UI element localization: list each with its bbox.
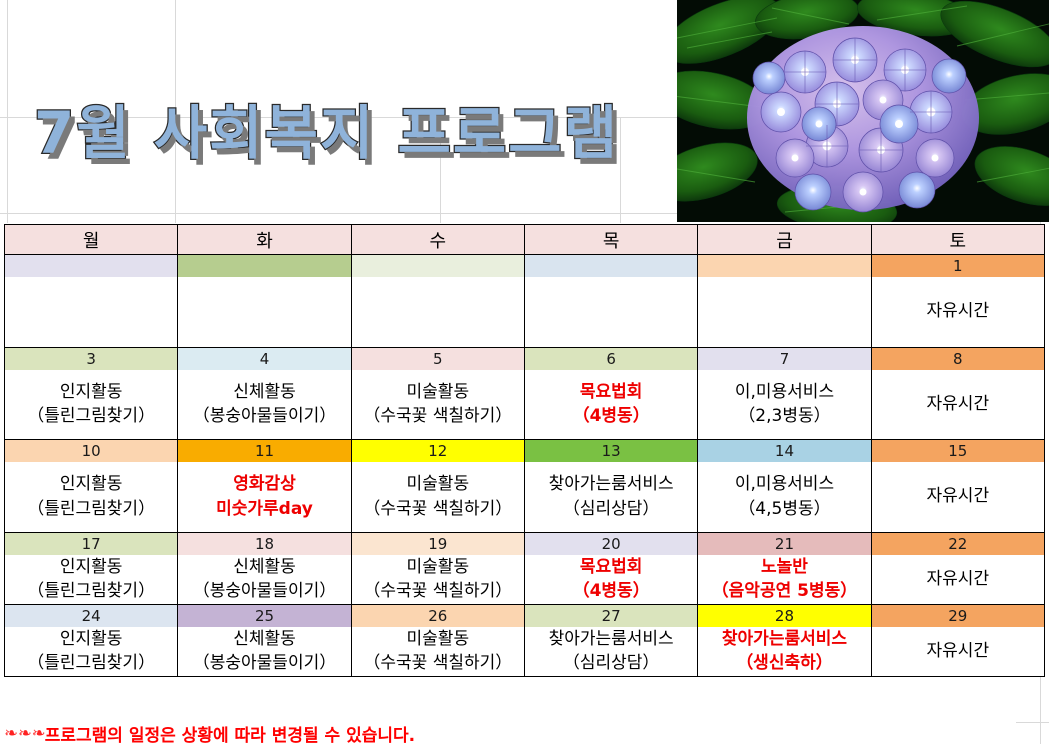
calendar-activity-row: 인지활동（틀린그림찾기）신체활동（봉숭아물들이기）미술활동（수국꽃 색칠하기）찾… (5, 627, 1045, 677)
calendar-date-row: 345678 (5, 347, 1045, 370)
calendar-activity-cell[interactable]: 신체활동（봉숭아물들이기） (178, 627, 351, 677)
calendar-date-number[interactable]: 27 (524, 604, 697, 627)
calendar-date-number[interactable]: 7 (698, 347, 871, 370)
grid-line (7, 0, 8, 223)
calendar-date-number[interactable]: 4 (178, 347, 351, 370)
calendar-activity-cell[interactable]: 자유시간 (871, 627, 1044, 677)
activity-line: （심리상담） (525, 651, 697, 676)
calendar-activity-cell[interactable]: 영화감상미숫가루day (178, 462, 351, 532)
activity-line: 목요법회 (525, 380, 697, 405)
activity-line: （틀린그림찾기） (5, 497, 177, 522)
activity-line: （4병동） (525, 579, 697, 604)
calendar-date-number[interactable]: 21 (698, 532, 871, 555)
calendar-date-number[interactable]: 12 (351, 440, 524, 463)
calendar-date-number[interactable]: 15 (871, 440, 1044, 463)
calendar-activity-row: 자유시간 (5, 277, 1045, 347)
weekday-header-wed: 수 (351, 225, 524, 255)
weekday-header-tue: 화 (178, 225, 351, 255)
activity-line: 미술활동 (352, 380, 524, 405)
calendar-date-number[interactable]: 24 (5, 604, 178, 627)
activity-line: 자유시간 (872, 299, 1044, 324)
activity-line: （수국꽃 색칠하기） (352, 497, 524, 522)
activity-line: （수국꽃 색칠하기） (352, 579, 524, 604)
calendar-date-number[interactable]: 29 (871, 604, 1044, 627)
calendar-date-number[interactable]: 1 (871, 255, 1044, 278)
activity-line: （수국꽃 색칠하기） (352, 404, 524, 429)
calendar-date-number[interactable]: 6 (524, 347, 697, 370)
activity-line: 자유시간 (872, 392, 1044, 417)
calendar-activity-cell[interactable]: 미술활동（수국꽃 색칠하기） (351, 462, 524, 532)
weekday-header-sat: 토 (871, 225, 1044, 255)
calendar-activity-row: 인지활동（틀린그림찾기）신체활동（봉숭아물들이기）미술활동（수국꽃 색칠하기）목… (5, 370, 1045, 440)
activity-line: （4병동） (525, 404, 697, 429)
calendar-empty-cell[interactable] (351, 277, 524, 347)
calendar-date-number[interactable]: 5 (351, 347, 524, 370)
activity-line: （2,3병동） (698, 404, 870, 429)
calendar-date-blank[interactable] (698, 255, 871, 278)
activity-line: （틀린그림찾기） (5, 651, 177, 676)
calendar-activity-cell[interactable]: 자유시간 (871, 555, 1044, 605)
calendar-date-blank[interactable] (178, 255, 351, 278)
calendar-date-number[interactable]: 8 (871, 347, 1044, 370)
calendar-activity-cell[interactable]: 목요법회（4병동） (524, 555, 697, 605)
calendar-date-blank[interactable] (524, 255, 697, 278)
activity-line: 인지활동 (5, 472, 177, 497)
calendar-date-number[interactable]: 28 (698, 604, 871, 627)
weekday-header-row: 월 화 수 목 금 토 (5, 225, 1045, 255)
grid-line (620, 118, 621, 223)
activity-line: 신체활동 (178, 380, 350, 405)
weekday-header-thu: 목 (524, 225, 697, 255)
calendar-activity-cell[interactable]: 미술활동（수국꽃 색칠하기） (351, 370, 524, 440)
calendar-activity-cell[interactable]: 자유시간 (871, 462, 1044, 532)
activity-line: （음악공연 5병동） (698, 579, 870, 604)
activity-line: 목요법회 (525, 555, 697, 580)
activity-line: 노놀반 (698, 555, 870, 580)
calendar-activity-cell[interactable]: 인지활동（틀린그림찾기） (5, 627, 178, 677)
weekday-header-mon: 월 (5, 225, 178, 255)
activity-line: 이,미용서비스 (698, 472, 870, 497)
footer-note-text: 프로그램의 일정은 상황에 따라 변경될 수 있습니다. (45, 721, 415, 744)
calendar-date-number[interactable]: 13 (524, 440, 697, 463)
hydrangea-photo (677, 0, 1049, 222)
calendar-date-number[interactable]: 11 (178, 440, 351, 463)
weekday-header-fri: 금 (698, 225, 871, 255)
calendar-date-blank[interactable] (5, 255, 178, 278)
activity-line: 영화감상 (178, 472, 350, 497)
calendar-activity-cell[interactable]: 신체활동（봉숭아물들이기） (178, 370, 351, 440)
activity-line: 자유시간 (872, 639, 1044, 664)
hydrangea-illustration (677, 0, 1049, 222)
calendar-activity-cell[interactable]: 자유시간 (871, 277, 1044, 347)
calendar-date-number[interactable]: 17 (5, 532, 178, 555)
activity-line: 찾아가는룸서비스 (525, 627, 697, 652)
calendar-date-number[interactable]: 25 (178, 604, 351, 627)
calendar-activity-row: 인지활동（틀린그림찾기）신체활동（봉숭아물들이기）미술활동（수국꽃 색칠하기）목… (5, 555, 1045, 605)
calendar-date-number[interactable]: 18 (178, 532, 351, 555)
activity-line: 미술활동 (352, 627, 524, 652)
calendar-activity-cell[interactable]: 노놀반（음악공연 5병동） (698, 555, 871, 605)
activity-line: 신체활동 (178, 627, 350, 652)
calendar-date-number[interactable]: 14 (698, 440, 871, 463)
calendar-date-row: 242526272829 (5, 604, 1045, 627)
calendar-date-row: 1 (5, 255, 1045, 278)
calendar-activity-cell[interactable]: 찾아가는룸서비스（심리상담） (524, 627, 697, 677)
calendar-empty-cell[interactable] (178, 277, 351, 347)
calendar-date-row: 171819202122 (5, 532, 1045, 555)
calendar-activity-cell[interactable]: 이,미용서비스（4,5병동） (698, 462, 871, 532)
calendar-date-number[interactable]: 3 (5, 347, 178, 370)
activity-line: （틀린그림찾기） (5, 579, 177, 604)
activity-line: （생신축하） (698, 651, 870, 676)
calendar-empty-cell[interactable] (698, 277, 871, 347)
activity-line: 미술활동 (352, 555, 524, 580)
calendar-activity-cell[interactable]: 미술활동（수국꽃 색칠하기） (351, 555, 524, 605)
activity-line: （심리상담） (525, 497, 697, 522)
calendar-activity-cell[interactable]: 인지활동（틀린그림찾기） (5, 555, 178, 605)
calendar-date-row: 101112131415 (5, 440, 1045, 463)
activity-line: 인지활동 (5, 555, 177, 580)
activity-line: 인지활동 (5, 380, 177, 405)
calendar-date-number[interactable]: 19 (351, 532, 524, 555)
calendar-activity-cell[interactable]: 목요법회（4병동） (524, 370, 697, 440)
flower-ribbon-icon: ❧❧❧ (4, 726, 45, 741)
calendar-date-number[interactable]: 10 (5, 440, 178, 463)
calendar-activity-cell[interactable]: 인지활동（틀린그림찾기） (5, 462, 178, 532)
activity-line: 인지활동 (5, 627, 177, 652)
activity-line: （봉숭아물들이기） (178, 404, 350, 429)
calendar-activity-row: 인지활동（틀린그림찾기）영화감상미숫가루day미술활동（수국꽃 색칠하기）찾아가… (5, 462, 1045, 532)
activity-line: 찾아가는룸서비스 (698, 627, 870, 652)
calendar-activity-cell[interactable]: 찾아가는룸서비스（생신축하） (698, 627, 871, 677)
grid-line (1016, 722, 1049, 723)
calendar-activity-cell[interactable]: 신체활동（봉숭아물들이기） (178, 555, 351, 605)
activity-line: （틀린그림찾기） (5, 404, 177, 429)
activity-line: 찾아가는룸서비스 (525, 472, 697, 497)
activity-line: 자유시간 (872, 484, 1044, 509)
page-title: 7월 사회복지 프로그램 (34, 86, 619, 170)
activity-line: （4,5병동） (698, 497, 870, 522)
activity-line: 자유시간 (872, 567, 1044, 592)
calendar-activity-cell[interactable]: 이,미용서비스（2,3병동） (698, 370, 871, 440)
activity-line: （봉숭아물들이기） (178, 651, 350, 676)
program-calendar-table: 월 화 수 목 금 토 1자유시간345678인지활동（틀린그림찾기）신체활동（… (4, 224, 1045, 677)
activity-line: 미숫가루day (178, 497, 350, 522)
calendar-activity-cell[interactable]: 찾아가는룸서비스（심리상담） (524, 462, 697, 532)
grid-line (0, 213, 680, 214)
calendar-page: 7월 사회복지 프로그램 (0, 0, 1049, 744)
calendar-date-number[interactable]: 22 (871, 532, 1044, 555)
calendar-header: 월 화 수 목 금 토 (5, 225, 1045, 255)
calendar-empty-cell[interactable] (524, 277, 697, 347)
activity-line: 이,미용서비스 (698, 380, 870, 405)
activity-line: 미술활동 (352, 472, 524, 497)
calendar-empty-cell[interactable] (5, 277, 178, 347)
activity-line: （수국꽃 색칠하기） (352, 651, 524, 676)
calendar-activity-cell[interactable]: 자유시간 (871, 370, 1044, 440)
activity-line: （봉숭아물들이기） (178, 579, 350, 604)
activity-line: 신체활동 (178, 555, 350, 580)
calendar-activity-cell[interactable]: 미술활동（수국꽃 색칠하기） (351, 627, 524, 677)
calendar-body: 1자유시간345678인지활동（틀린그림찾기）신체활동（봉숭아물들이기）미술활동… (5, 255, 1045, 677)
calendar-activity-cell[interactable]: 인지활동（틀린그림찾기） (5, 370, 178, 440)
calendar-date-blank[interactable] (351, 255, 524, 278)
calendar-date-number[interactable]: 26 (351, 604, 524, 627)
footer-note: ❧❧❧ 프로그램의 일정은 상황에 따라 변경될 수 있습니다. (6, 721, 415, 744)
calendar-date-number[interactable]: 20 (524, 532, 697, 555)
